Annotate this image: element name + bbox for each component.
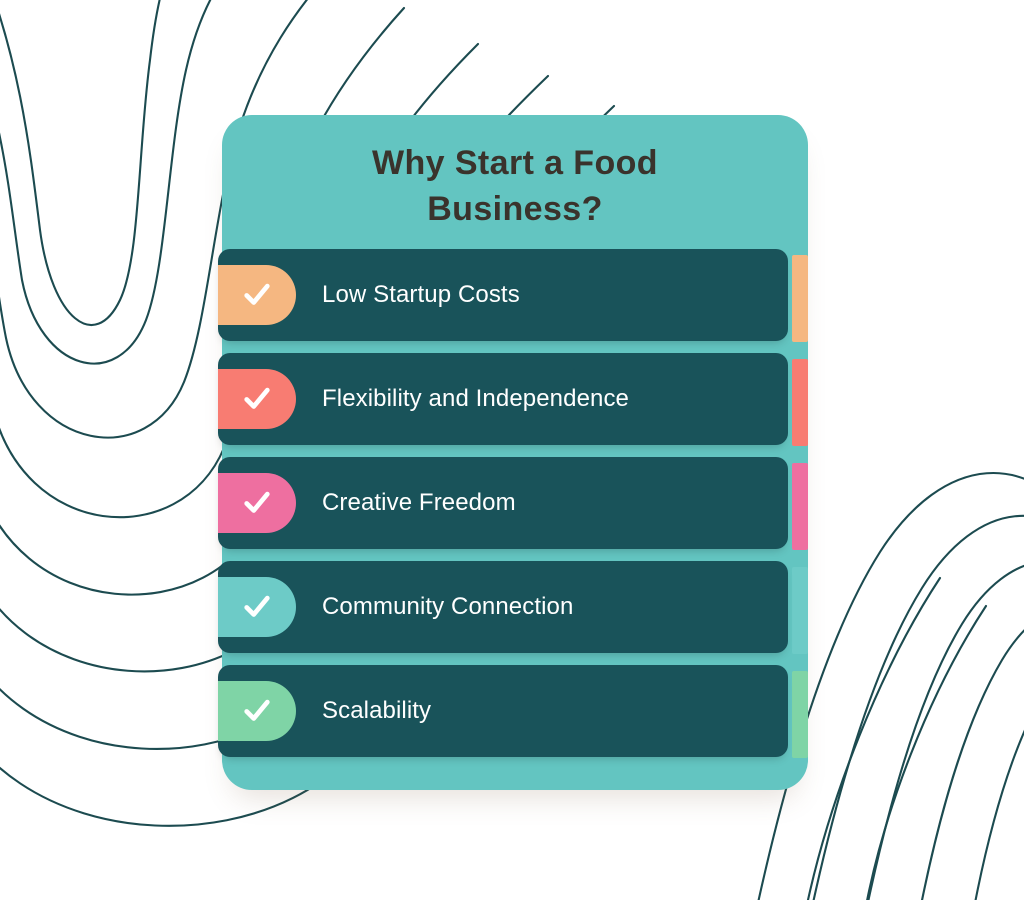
benefit-row[interactable]: Flexibility and Independence [218, 353, 788, 445]
benefits-list: Low Startup Costs Flexibility and Indepe… [222, 249, 808, 769]
benefit-item-wrapper: Scalability [222, 665, 808, 769]
benefit-label: Community Connection [322, 593, 573, 621]
benefit-accent-tab [792, 255, 808, 342]
benefit-label: Flexibility and Independence [322, 385, 629, 413]
benefit-label: Creative Freedom [322, 489, 516, 517]
benefit-item-wrapper: Community Connection [222, 561, 808, 665]
check-icon [242, 488, 272, 518]
benefit-accent-tab [792, 463, 808, 550]
benefits-card: Why Start a Food Business? Low Startup C… [222, 115, 808, 790]
check-icon [242, 592, 272, 622]
benefit-icon-pill [218, 265, 296, 325]
benefit-row[interactable]: Community Connection [218, 561, 788, 653]
benefit-row[interactable]: Low Startup Costs [218, 249, 788, 341]
check-icon [242, 696, 272, 726]
benefit-icon-pill [218, 473, 296, 533]
benefit-item-wrapper: Low Startup Costs [222, 249, 808, 353]
benefit-item-wrapper: Flexibility and Independence [222, 353, 808, 457]
check-icon [242, 384, 272, 414]
bottomright-diagonal-lines [808, 578, 986, 900]
card-title: Why Start a Food Business? [252, 141, 778, 232]
check-icon [242, 280, 272, 310]
benefit-icon-pill [218, 369, 296, 429]
benefit-icon-pill [218, 577, 296, 637]
benefit-accent-tab [792, 359, 808, 446]
benefit-accent-tab [792, 567, 808, 654]
benefit-icon-pill [218, 681, 296, 741]
benefit-accent-tab [792, 671, 808, 758]
benefit-label: Scalability [322, 697, 431, 725]
benefit-label: Low Startup Costs [322, 281, 520, 309]
benefit-row[interactable]: Scalability [218, 665, 788, 757]
benefit-row[interactable]: Creative Freedom [218, 457, 788, 549]
benefit-item-wrapper: Creative Freedom [222, 457, 808, 561]
